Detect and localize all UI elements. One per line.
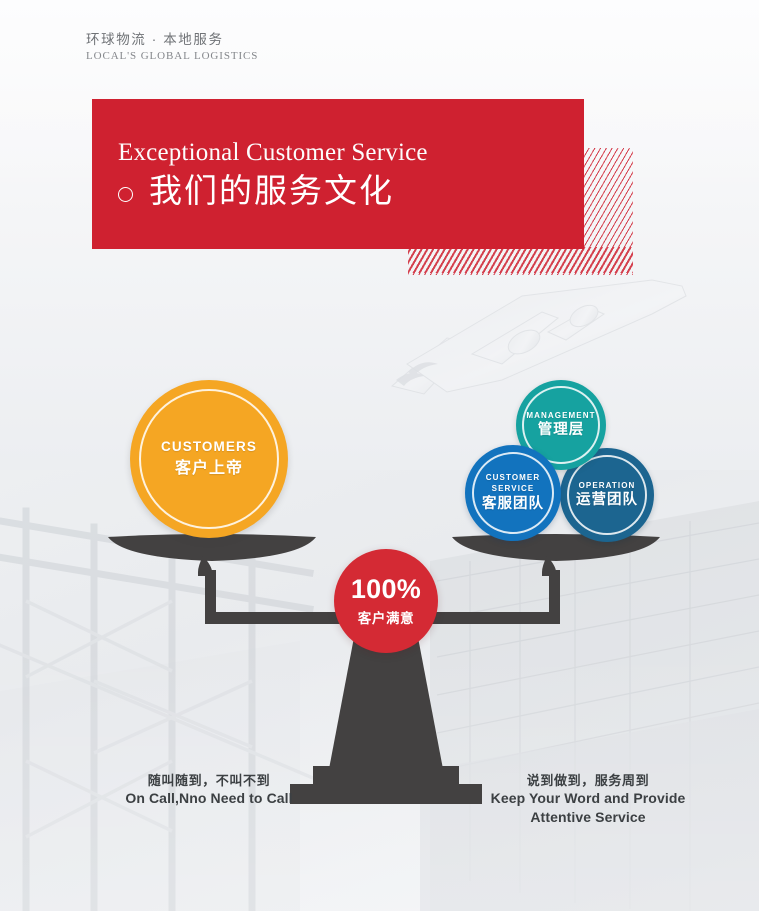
caption-right-en-2: Attentive Service — [478, 808, 698, 826]
caption-left-en: On Call,Nno Need to Call — [110, 789, 308, 807]
circle-management-label-cn: 管理层 — [538, 422, 585, 439]
caption-right-cn: 说到做到，服务周到 — [478, 772, 698, 789]
circle-customers-label-cn: 客户上帝 — [175, 459, 243, 478]
circle-operation-label-en: OPERATION — [579, 481, 636, 490]
brand-lockup: 环球物流 · 本地服务 LOCAL'S GLOBAL LOGISTICS — [86, 30, 258, 64]
caption-left: 随叫随到，不叫不到 On Call,Nno Need to Call — [110, 772, 308, 808]
port-crane-photo — [0, 481, 320, 911]
banner-title-cn: 我们的服务文化 — [149, 171, 394, 211]
banner-title-en: Exceptional Customer Service — [118, 139, 428, 167]
satisfaction-percent: 100% — [351, 576, 421, 603]
circle-management-label-en: MANAGEMENT — [526, 411, 595, 420]
ring-bullet-icon — [118, 187, 133, 202]
circle-customer-service-label-en-1: CUSTOMER — [486, 473, 540, 482]
circle-customer-service[interactable]: CUSTOMER SERVICE 客服团队 — [465, 445, 561, 541]
title-banner: Exceptional Customer Service 我们的服务文化 — [92, 99, 584, 249]
diagonal-hatch-bottom — [408, 247, 633, 275]
banner-title-cn-row: 我们的服务文化 — [118, 171, 394, 211]
brand-name-cn: 环球物流 · 本地服务 — [86, 30, 258, 49]
poster-canvas: 环球物流 · 本地服务 LOCAL'S GLOBAL LOGISTICS Exc… — [0, 0, 759, 911]
caption-left-cn: 随叫随到，不叫不到 — [110, 772, 308, 789]
circle-operation-label-cn: 运营团队 — [576, 492, 638, 509]
circle-customer-service-label-cn: 客服团队 — [482, 496, 544, 513]
circle-customer-service-label-en-2: SERVICE — [492, 484, 535, 493]
circle-customers-label-en: CUSTOMERS — [161, 439, 257, 455]
caption-right-en-1: Keep Your Word and Provide — [478, 789, 698, 807]
satisfaction-label-cn: 客户满意 — [358, 607, 414, 627]
circle-satisfaction[interactable]: 100% 客户满意 — [334, 549, 438, 653]
circle-customers[interactable]: CUSTOMERS 客户上帝 — [130, 380, 288, 538]
caption-right: 说到做到，服务周到 Keep Your Word and Provide Att… — [478, 772, 698, 826]
brand-name-en: LOCAL'S GLOBAL LOGISTICS — [86, 49, 258, 64]
